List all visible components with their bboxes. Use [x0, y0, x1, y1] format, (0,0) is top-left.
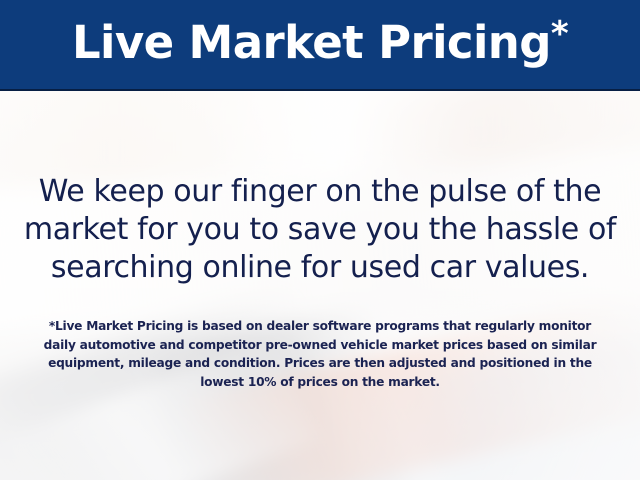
banner-content: We keep our finger on the pulse of the m…	[0, 91, 640, 480]
headline-line-1: We keep our finger on the pulse of the	[20, 173, 620, 211]
disclaimer-line-2: daily automotive and competitor pre-owne…	[24, 336, 616, 355]
headline-line-2: market for you to save you the hassle of	[20, 211, 620, 249]
disclaimer-line-1: *Live Market Pricing is based on dealer …	[24, 317, 616, 336]
disclaimer-line-4: lowest 10% of prices on the market.	[24, 373, 616, 392]
headline-line-3: searching online for used car values.	[20, 249, 620, 287]
disclaimer: *Live Market Pricing is based on dealer …	[24, 317, 616, 391]
banner-title: Live Market Pricing*	[72, 20, 568, 65]
live-market-pricing-banner: Live Market Pricing* We keep our finger …	[0, 0, 640, 480]
banner-title-asterisk: *	[551, 14, 568, 54]
title-bar: Live Market Pricing*	[0, 0, 640, 91]
disclaimer-line-3: equipment, mileage and condition. Prices…	[24, 354, 616, 373]
headline: We keep our finger on the pulse of the m…	[20, 173, 620, 287]
banner-title-text: Live Market Pricing	[72, 16, 551, 69]
